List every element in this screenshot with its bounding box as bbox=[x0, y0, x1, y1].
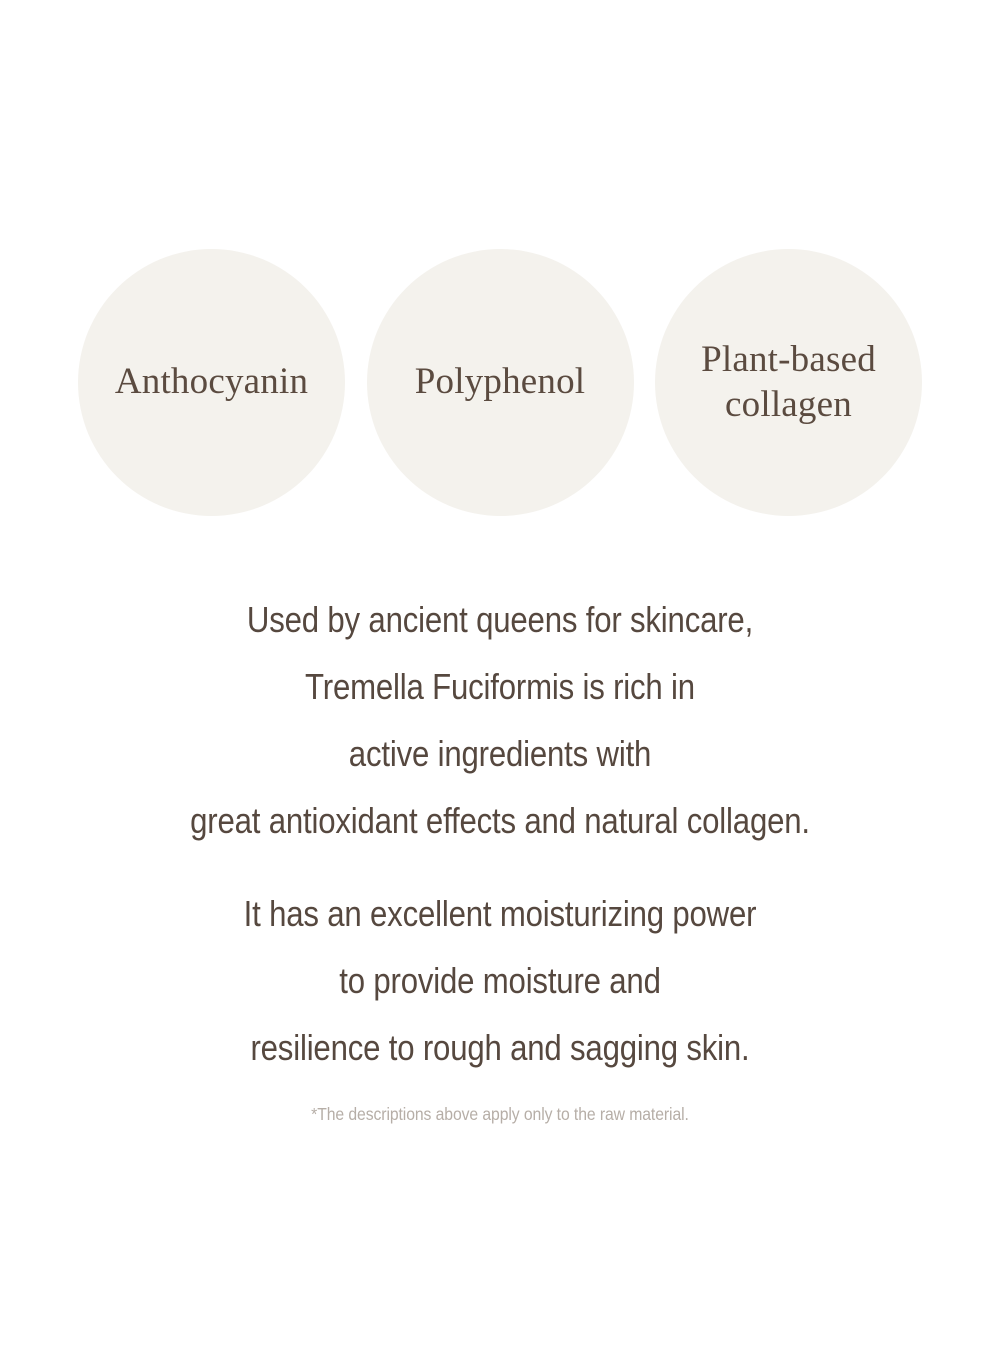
ingredient-circle-polyphenol: Polyphenol bbox=[367, 249, 634, 516]
ingredient-circle-anthocyanin: Anthocyanin bbox=[78, 249, 345, 516]
ingredient-circles-row: Anthocyanin Polyphenol Plant-based colla… bbox=[78, 248, 922, 516]
description-paragraph-1: Used by ancient queens for skincare, Tre… bbox=[68, 586, 933, 854]
product-ingredient-page: Anthocyanin Polyphenol Plant-based colla… bbox=[0, 0, 1000, 1360]
description-block: Used by ancient queens for skincare, Tre… bbox=[0, 586, 1000, 1081]
description-paragraph-2: It has an excellent moisturizing power t… bbox=[68, 880, 933, 1081]
ingredient-label: Anthocyanin bbox=[101, 360, 322, 404]
ingredient-circle-plant-based-collagen: Plant-based collagen bbox=[655, 249, 922, 516]
ingredient-label: Polyphenol bbox=[401, 360, 600, 404]
raw-material-disclaimer: *The descriptions above apply only to th… bbox=[50, 1102, 950, 1126]
ingredient-label: Plant-based collagen bbox=[687, 337, 890, 427]
